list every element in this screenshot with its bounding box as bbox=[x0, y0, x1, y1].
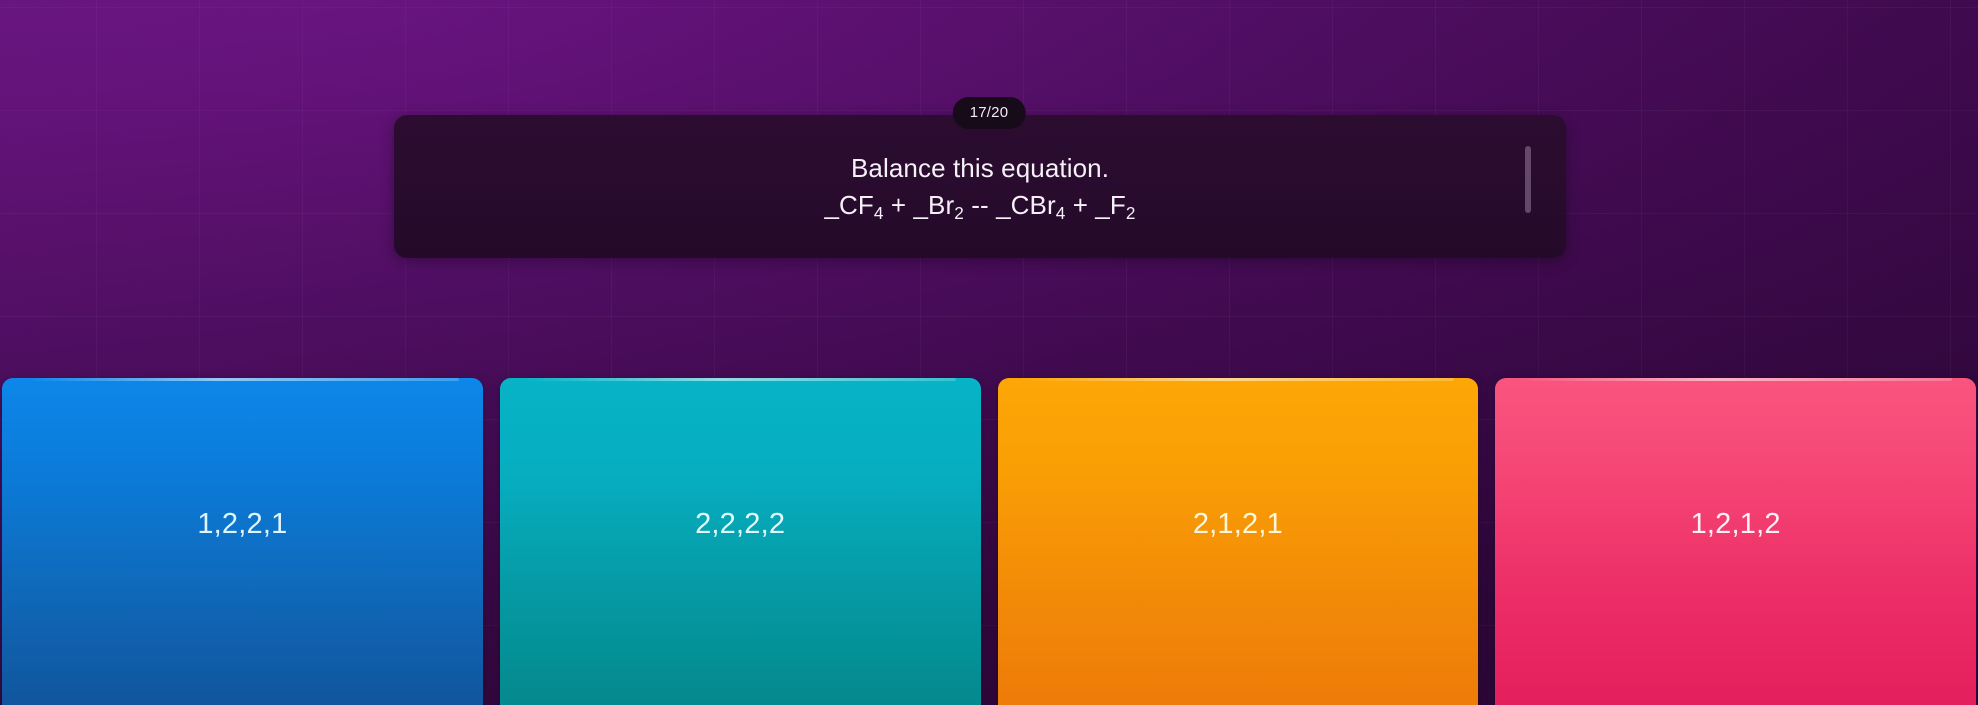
question-equation-text: _CF4 + _Br2 -- _CBr4 + _F2 bbox=[824, 188, 1135, 223]
answer-label-2: 2,2,2,2 bbox=[695, 508, 785, 541]
answer-label-1: 1,2,2,1 bbox=[197, 508, 287, 541]
question-scroll-region[interactable]: Balance this equation. _CF4 + _Br2 -- _C… bbox=[394, 115, 1566, 258]
question-card: Balance this equation. _CF4 + _Br2 -- _C… bbox=[394, 115, 1566, 258]
answer-tile-3[interactable]: 2,1,2,1 bbox=[998, 378, 1479, 705]
question-prompt-text: Balance this equation. bbox=[851, 151, 1109, 186]
answer-tile-4[interactable]: 1,2,1,2 bbox=[1495, 378, 1976, 705]
progress-badge: 17/20 bbox=[953, 97, 1026, 129]
question-scrollbar-thumb[interactable] bbox=[1525, 146, 1531, 213]
answers-grid: 1,2,2,1 2,2,2,2 2,1,2,1 1,2,1,2 bbox=[2, 378, 1976, 705]
question-area: Balance this equation. _CF4 + _Br2 -- _C… bbox=[394, 115, 1566, 258]
answer-label-3: 2,1,2,1 bbox=[1193, 508, 1283, 541]
answer-tile-2[interactable]: 2,2,2,2 bbox=[500, 378, 981, 705]
answer-label-4: 1,2,1,2 bbox=[1691, 508, 1781, 541]
answer-tile-1[interactable]: 1,2,2,1 bbox=[2, 378, 483, 705]
